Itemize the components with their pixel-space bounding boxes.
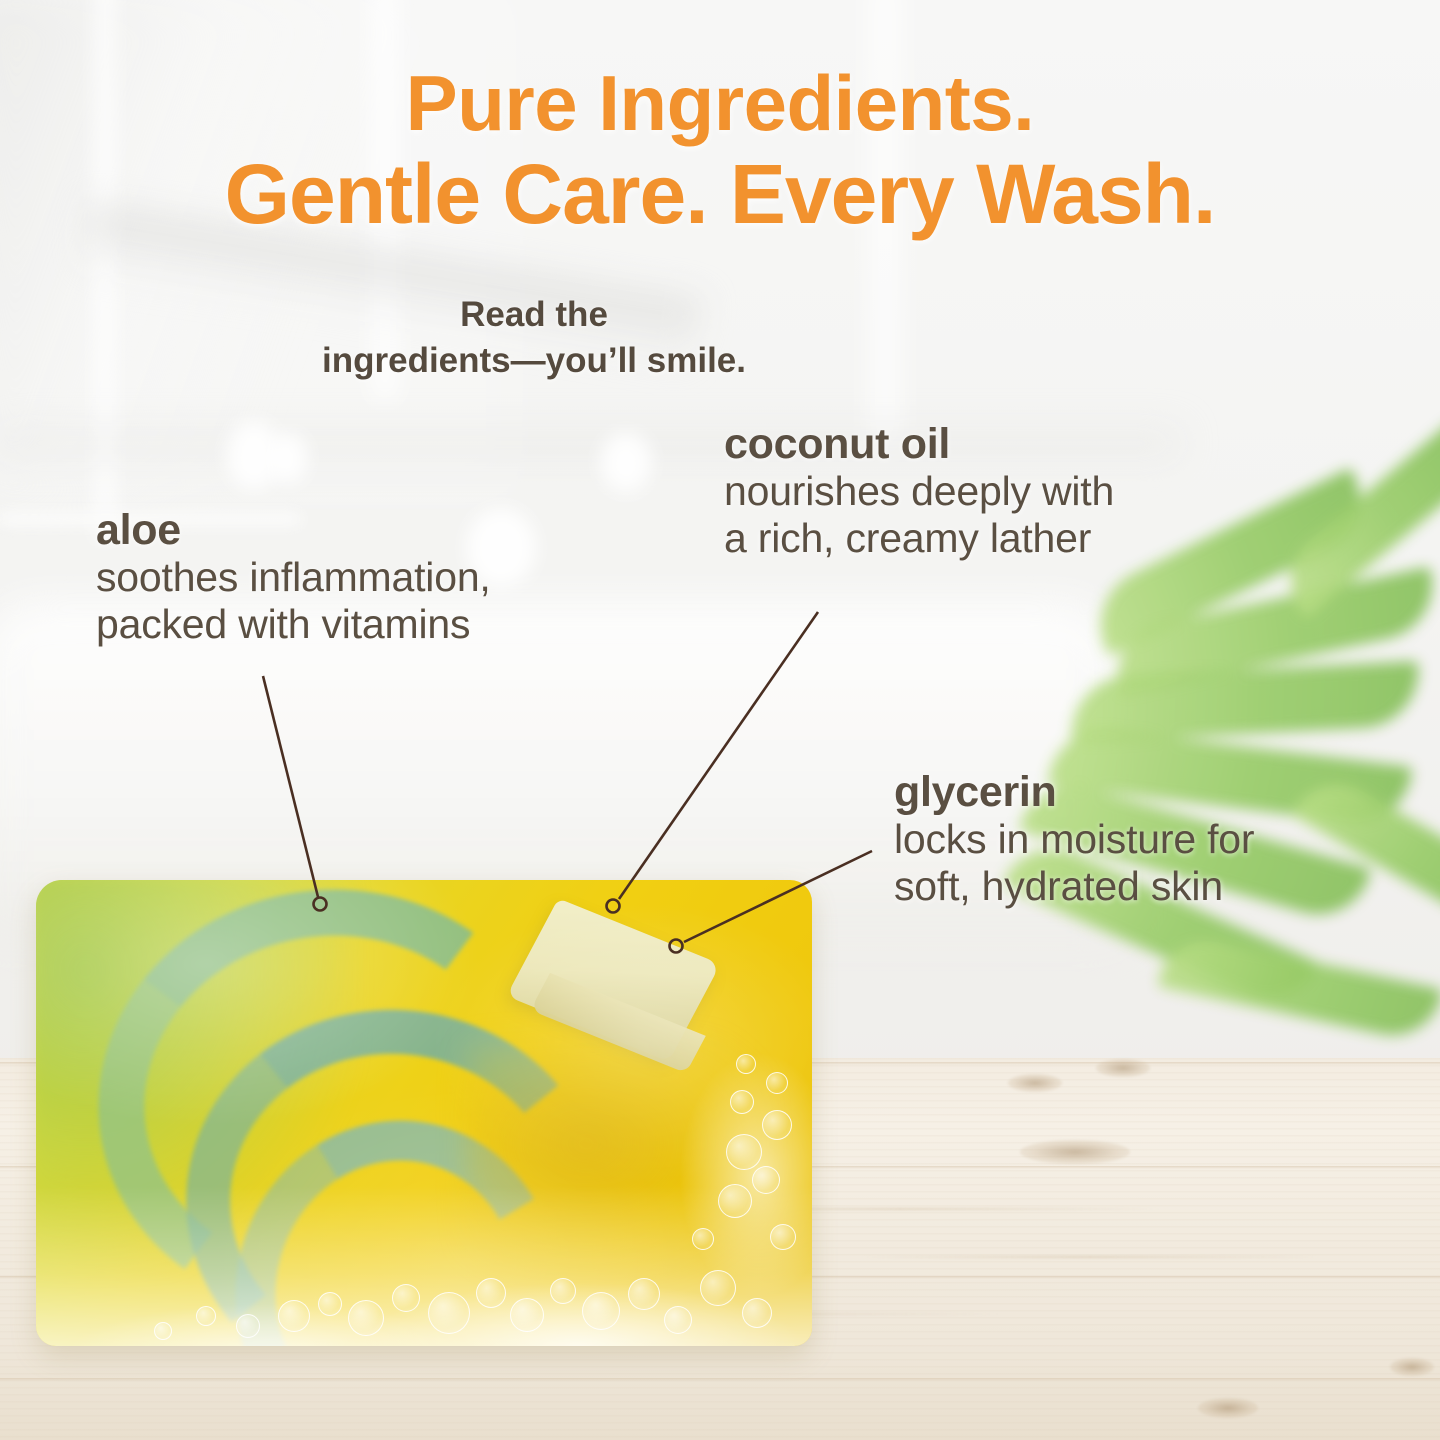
callout-coconut-oil-body-line-1: nourishes deeply with [724,468,1284,515]
background-hook-4 [600,432,652,492]
callout-aloe-body-line-2: packed with vitamins [96,601,696,648]
headline-line-1: Pure Ingredients. [0,60,1440,147]
headline: Pure Ingredients. Gentle Care. Every Was… [0,60,1440,241]
callout-aloe-title: aloe [96,508,696,554]
headline-line-2: Gentle Care. Every Wash. [0,147,1440,241]
soap-foam-bottom [36,1186,812,1346]
subheading-line-2: ingredients—you’ll smile. [214,338,854,384]
callout-glycerin-body-line-1: locks in moisture for [894,816,1414,863]
callout-coconut-oil-body-line-2: a rich, creamy lather [724,515,1284,562]
subheading: Read the ingredients—you’ll smile. [214,292,854,383]
callout-glycerin-title: glycerin [894,770,1414,816]
callout-glycerin-body-line-2: soft, hydrated skin [894,863,1414,910]
subheading-line-1: Read the [214,292,854,338]
callout-coconut-oil-title: coconut oil [724,422,1284,468]
callout-aloe: aloe soothes inflammation, packed with v… [96,508,696,648]
background-hook-2 [268,432,308,484]
soap-bar [36,880,812,1346]
callout-glycerin: glycerin locks in moisture for soft, hyd… [894,770,1414,910]
callout-aloe-body-line-1: soothes inflammation, [96,554,696,601]
ingredient-infographic: Pure Ingredients. Gentle Care. Every Was… [0,0,1440,1440]
callout-coconut-oil: coconut oil nourishes deeply with a rich… [724,422,1284,562]
